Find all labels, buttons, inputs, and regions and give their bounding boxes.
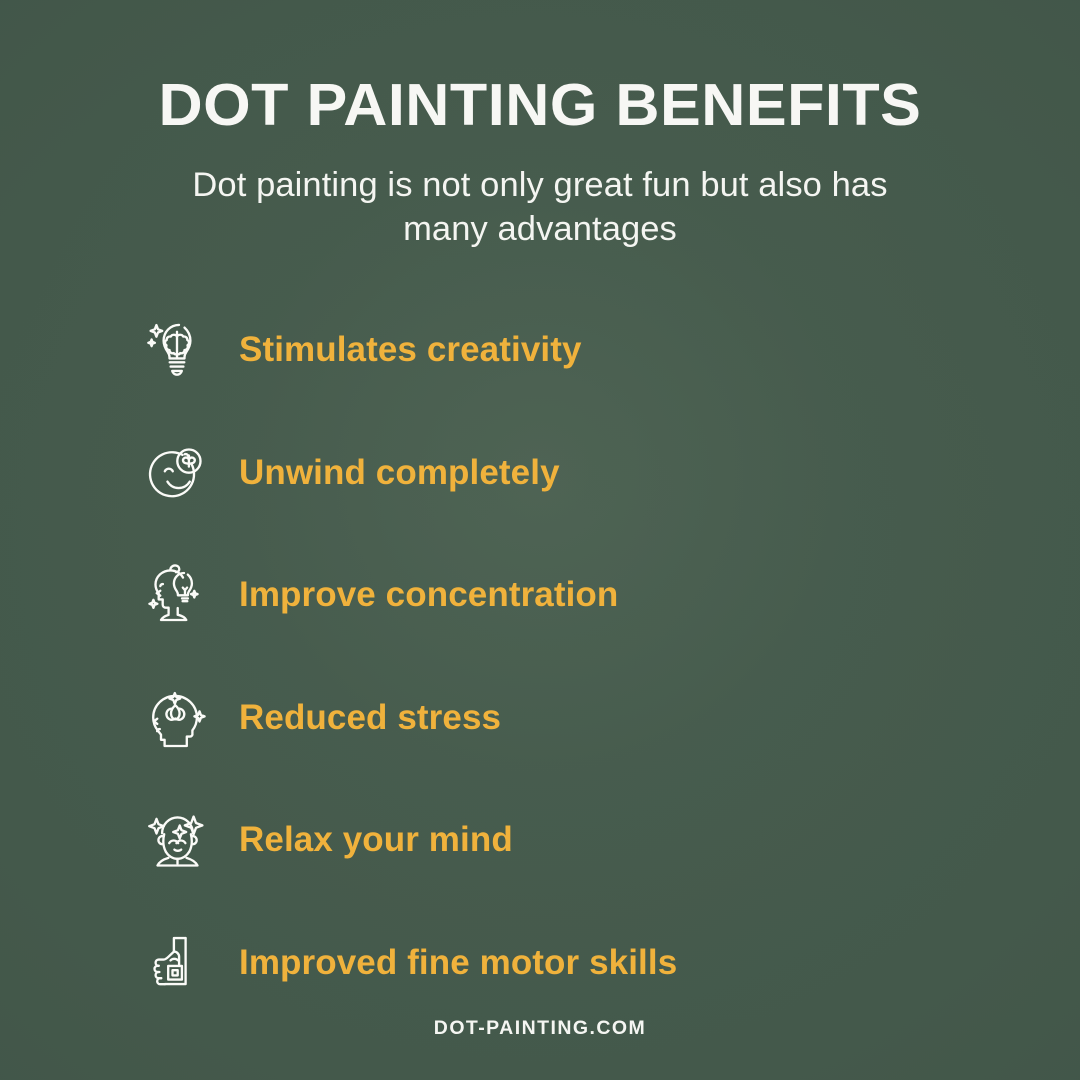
benefit-label: Relax your mind [239,820,513,860]
smiley-face-flower-icon [141,432,213,514]
head-lotus-sparkle-icon [141,677,213,759]
poster-header: DOT PAINTING BENEFITS Dot painting is no… [0,0,1080,251]
footer-website: DOT-PAINTING.COM [0,1017,1080,1040]
head-lotus-sparkle-icon-row: Reduced stress [141,657,981,780]
benefit-label: Improve concentration [239,575,618,615]
hand-holding-block-icon [141,922,213,1004]
head-profile-lightbulb-icon [141,554,213,636]
page-title: DOT PAINTING BENEFITS [0,76,1080,135]
benefit-label: Stimulates creativity [239,330,582,370]
calm-face-stars-icon [141,799,213,881]
benefit-label: Unwind completely [239,453,560,493]
page-subtitle: Dot painting is not only great fun but a… [150,163,930,251]
poster-canvas: DOT PAINTING BENEFITS Dot painting is no… [0,0,1080,1080]
list-item: Improve concentration [141,534,981,657]
list-item: Unwind completely [141,412,981,535]
lightbulb-brain-sparkle-icon [141,309,213,391]
list-item: Stimulates creativity [141,289,981,412]
list-item: Improved fine motor skills [141,902,981,1025]
benefit-label: Improved fine motor skills [239,943,677,983]
benefit-label: Reduced stress [239,698,501,738]
benefits-list: Stimulates creativity Unwind completely [141,289,981,1024]
list-item: Relax your mind [141,779,981,902]
